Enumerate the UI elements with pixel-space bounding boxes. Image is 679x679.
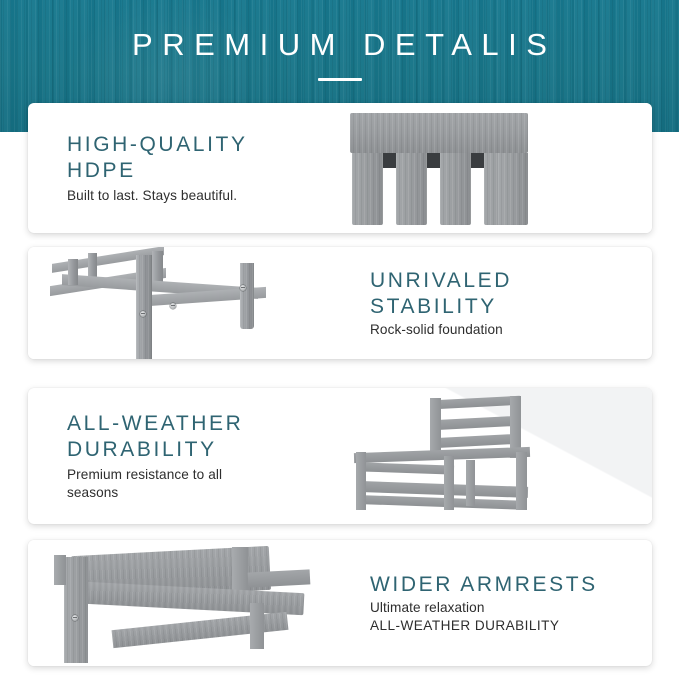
- armrest-post-shape: [64, 557, 88, 663]
- chair-leg-shape: [444, 456, 454, 510]
- title-underline-rule: [318, 78, 362, 81]
- chair-leg-frame-photo: [28, 247, 340, 359]
- chair-in-weather-photo: [340, 388, 652, 524]
- chair-leg-shape: [466, 460, 475, 506]
- chair-leg-shape: [250, 603, 264, 649]
- hdpe-slat-detail-photo: [340, 103, 652, 233]
- feature-card-armrests[interactable]: WIDER ARMRESTS Ultimate relaxation ALL-W…: [28, 540, 652, 666]
- feature-headline: ALL-WEATHER DURABILITY: [67, 411, 326, 463]
- chair-leg-shape: [516, 452, 527, 510]
- feature-card-hdpe[interactable]: HIGH-QUALITY HDPE Built to last. Stays b…: [28, 103, 652, 233]
- slat-joint-mark: [427, 153, 440, 168]
- wide-armrest-closeup-photo: [28, 540, 340, 666]
- chair-leg-shape: [356, 452, 366, 510]
- chair-leg-shape: [240, 263, 254, 329]
- feature-subline-secondary: ALL-WEATHER DURABILITY: [370, 617, 559, 634]
- feature-card-stability[interactable]: UNRIVALED STABILITY Rock-solid foundatio…: [28, 247, 652, 359]
- feature-card-copy: HIGH-QUALITY HDPE Built to last. Stays b…: [28, 103, 340, 233]
- feature-subline: Built to last. Stays beautiful.: [67, 187, 326, 204]
- feature-subline: Ultimate relaxation: [370, 599, 484, 616]
- feature-card-copy: UNRIVALED STABILITY Rock-solid foundatio…: [340, 247, 652, 359]
- screw-icon: [170, 303, 176, 309]
- slat-joint-mark: [471, 153, 484, 168]
- page-title: PREMIUM DETALIS: [0, 29, 679, 60]
- feature-subline: Premium resistance to all seasons: [67, 466, 326, 501]
- feature-headline: UNRIVALED STABILITY: [370, 268, 642, 320]
- screw-icon: [240, 285, 246, 291]
- armrest-front-shape: [248, 569, 311, 587]
- feature-card-copy: WIDER ARMRESTS Ultimate relaxation ALL-W…: [340, 540, 652, 666]
- screw-icon: [72, 615, 78, 621]
- chair-leg-shape: [68, 259, 78, 285]
- armrest-post-shape: [54, 555, 66, 585]
- feature-subline: Rock-solid foundation: [370, 321, 503, 338]
- slat-joint-mark: [383, 153, 396, 168]
- chair-top-rail-shape: [350, 113, 528, 153]
- feature-card-durability[interactable]: ALL-WEATHER DURABILITY Premium resistanc…: [28, 388, 652, 524]
- chair-slat-shape: [440, 153, 471, 225]
- chair-slat-shape: [352, 153, 383, 225]
- chair-slat-shape: [396, 153, 427, 225]
- feature-headline: HIGH-QUALITY HDPE: [67, 132, 326, 184]
- feature-headline: WIDER ARMRESTS: [370, 572, 598, 598]
- screw-icon: [140, 311, 146, 317]
- chair-leg-shape: [136, 255, 152, 359]
- feature-card-copy: ALL-WEATHER DURABILITY Premium resistanc…: [28, 388, 340, 524]
- chair-slat-shape: [498, 153, 528, 225]
